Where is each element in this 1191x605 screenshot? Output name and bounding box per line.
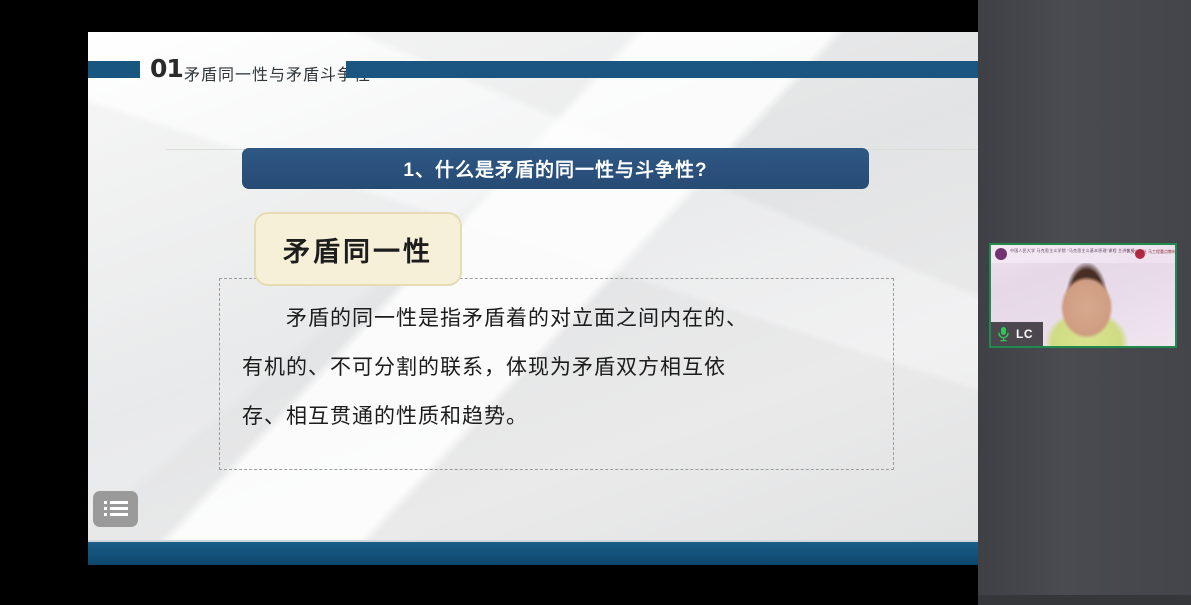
- concept-label-chip: 矛盾同一性: [254, 212, 462, 286]
- concept-label-text: 矛盾同一性: [283, 230, 433, 269]
- header-section-number: 01: [150, 54, 183, 83]
- microphone-icon[interactable]: [997, 326, 1010, 342]
- header-accent-bar-right: [346, 61, 1022, 78]
- slide-header: 01 矛盾同一性与矛盾斗争性: [88, 50, 1022, 90]
- computer-use-screen: 01 矛盾同一性与矛盾斗争性 1、什么是矛盾的同一性与斗争性? 矛盾同一性 矛盾…: [0, 0, 1191, 605]
- header-accent-bar-left: [88, 61, 140, 78]
- university-logo-icon: [995, 248, 1007, 260]
- section-title-text: 1、什么是矛盾的同一性与斗争性?: [403, 155, 707, 182]
- list-icon: [104, 500, 128, 518]
- definition-dashed-box: [219, 278, 894, 470]
- letterbox-left: [0, 0, 44, 605]
- section-title-pill: 1、什么是矛盾的同一性与斗争性?: [242, 148, 869, 189]
- video-overlay-banner: 中国人民大学 马克思主义学院 "马克思主义基本原理"课程 主讲教师 人大出版社 …: [991, 245, 1177, 263]
- participant-video-tile[interactable]: 中国人民大学 马克思主义学院 "马克思主义基本原理"课程 主讲教师 人大出版社 …: [989, 243, 1177, 348]
- shared-slide[interactable]: 01 矛盾同一性与矛盾斗争性 1、什么是矛盾的同一性与斗争性? 矛盾同一性 矛盾…: [88, 32, 1022, 565]
- panel-bottom-strip: [978, 595, 1191, 605]
- participant-badge: LC: [991, 322, 1043, 346]
- participant-initials: LC: [1016, 327, 1033, 341]
- slide-outline-button[interactable]: [93, 491, 138, 527]
- banner-text-right: 人大出版社 马工程重点教材: [1127, 249, 1176, 255]
- banner-text-left: 中国人民大学 马克思主义学院 "马克思主义基本原理"课程 主讲教师: [1010, 248, 1135, 254]
- slide-footer-band: [88, 542, 1022, 565]
- header-section-title: 矛盾同一性与矛盾斗争性: [184, 61, 371, 85]
- presentation-stage: 01 矛盾同一性与矛盾斗争性 1、什么是矛盾的同一性与斗争性? 矛盾同一性 矛盾…: [44, 0, 978, 605]
